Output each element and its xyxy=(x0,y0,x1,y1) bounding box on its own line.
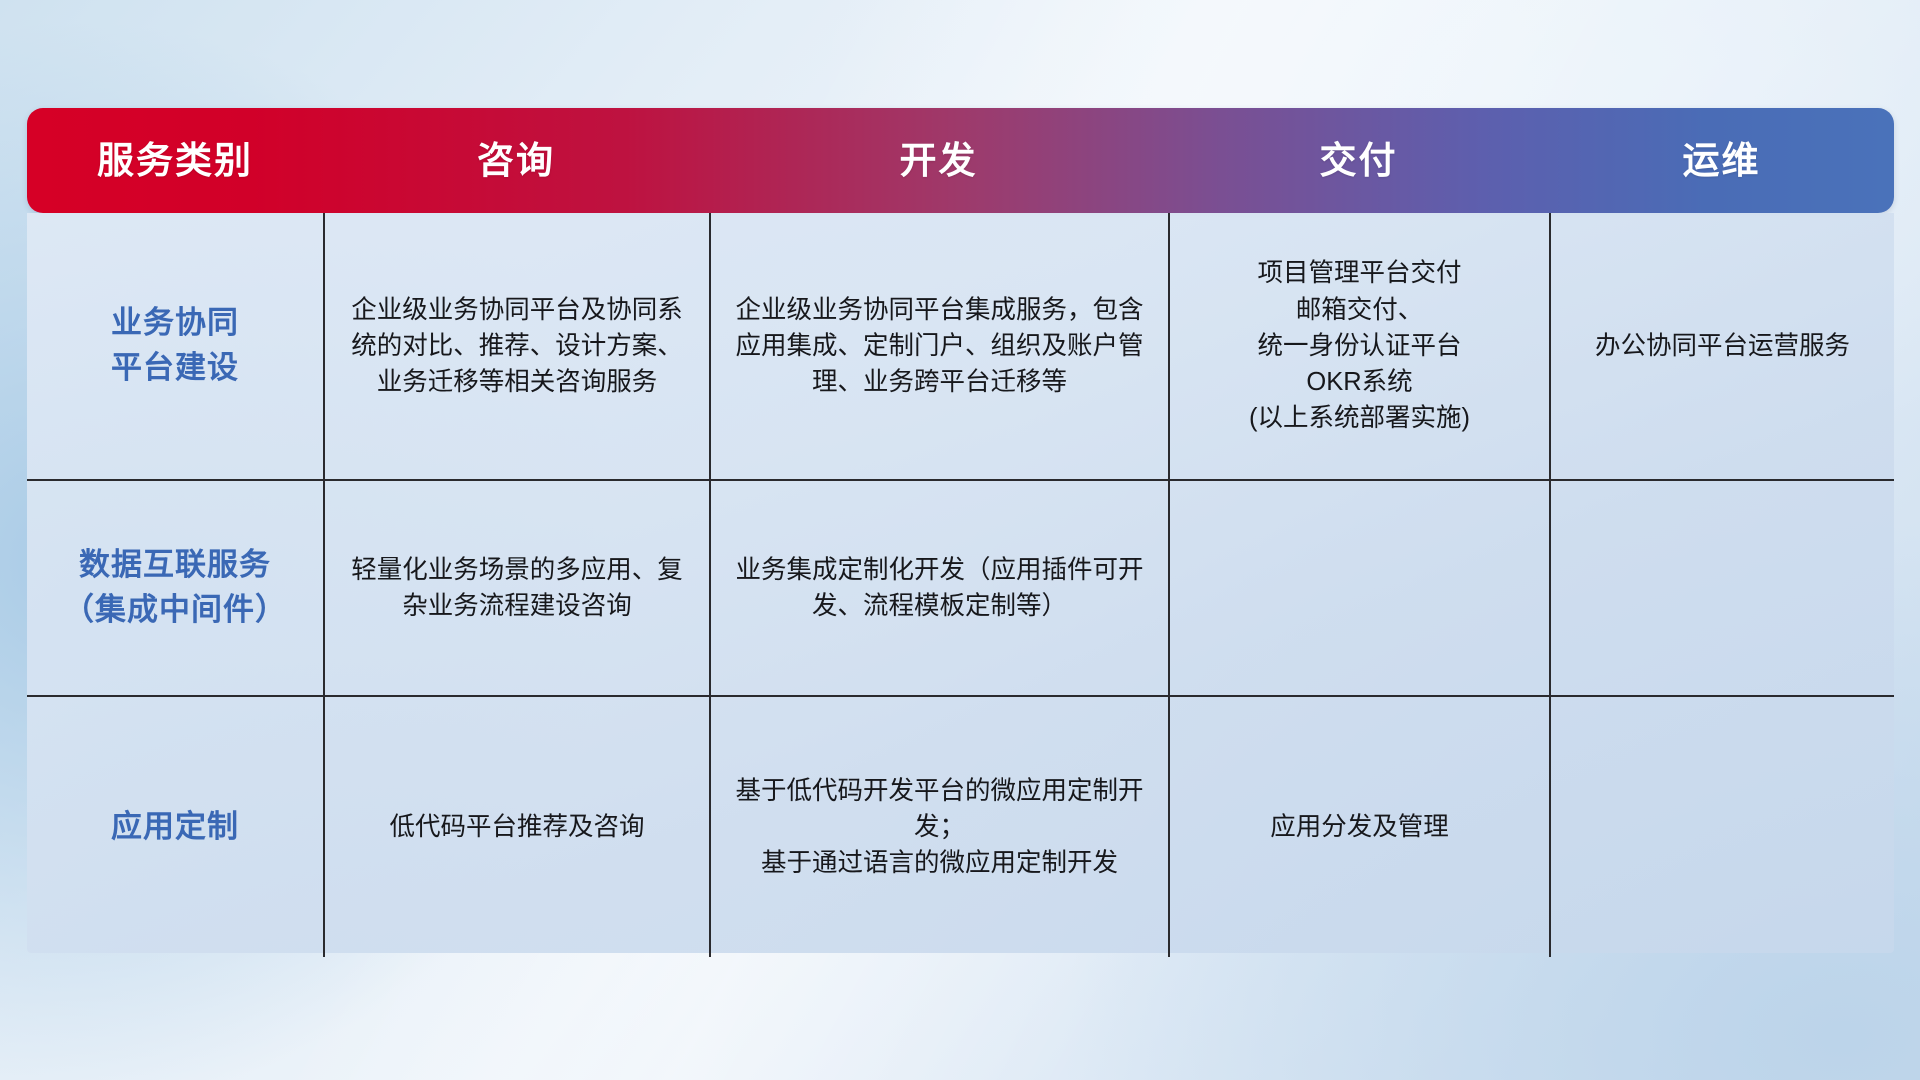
column-header-category: 服务类别 xyxy=(27,142,323,179)
column-header-operations: 运维 xyxy=(1549,142,1894,179)
cell-consulting: 企业级业务协同平台及协同系统的对比、推荐、设计方案、业务迁移等相关咨询服务 xyxy=(323,213,709,479)
table-header-row: 服务类别 咨询 开发 交付 运维 xyxy=(27,108,1894,213)
column-header-consulting: 咨询 xyxy=(323,142,709,179)
slide-canvas: 服务类别 咨询 开发 交付 运维 业务协同 平台建设 企业级业务协同平台及协同系… xyxy=(0,0,1920,1080)
row-category-label: 数据互联服务 （集成中间件） xyxy=(27,481,323,695)
cell-delivery xyxy=(1168,481,1549,695)
table-row: 数据互联服务 （集成中间件） 轻量化业务场景的多应用、复杂业务流程建设咨询 业务… xyxy=(27,479,1894,695)
cell-operations xyxy=(1549,481,1894,695)
column-header-delivery: 交付 xyxy=(1168,142,1549,179)
cell-consulting: 低代码平台推荐及咨询 xyxy=(323,697,709,957)
row-category-label: 应用定制 xyxy=(27,697,323,957)
table-body: 业务协同 平台建设 企业级业务协同平台及协同系统的对比、推荐、设计方案、业务迁移… xyxy=(27,213,1894,953)
cell-consulting: 轻量化业务场景的多应用、复杂业务流程建设咨询 xyxy=(323,481,709,695)
cell-development: 基于低代码开发平台的微应用定制开发； 基于通过语言的微应用定制开发 xyxy=(709,697,1168,957)
cell-development: 业务集成定制化开发（应用插件可开发、流程模板定制等） xyxy=(709,481,1168,695)
table-row: 应用定制 低代码平台推荐及咨询 基于低代码开发平台的微应用定制开发； 基于通过语… xyxy=(27,695,1894,957)
row-category-label: 业务协同 平台建设 xyxy=(27,213,323,479)
cell-delivery: 应用分发及管理 xyxy=(1168,697,1549,957)
cell-operations: 办公协同平台运营服务 xyxy=(1549,213,1894,479)
table-row: 业务协同 平台建设 企业级业务协同平台及协同系统的对比、推荐、设计方案、业务迁移… xyxy=(27,213,1894,479)
cell-development: 企业级业务协同平台集成服务，包含应用集成、定制门户、组织及账户管理、业务跨平台迁… xyxy=(709,213,1168,479)
cell-operations xyxy=(1549,697,1894,957)
service-matrix-table: 服务类别 咨询 开发 交付 运维 业务协同 平台建设 企业级业务协同平台及协同系… xyxy=(27,108,1894,953)
column-header-development: 开发 xyxy=(709,142,1168,179)
cell-delivery: 项目管理平台交付 邮箱交付、 统一身份认证平台 OKR系统 (以上系统部署实施) xyxy=(1168,213,1549,479)
